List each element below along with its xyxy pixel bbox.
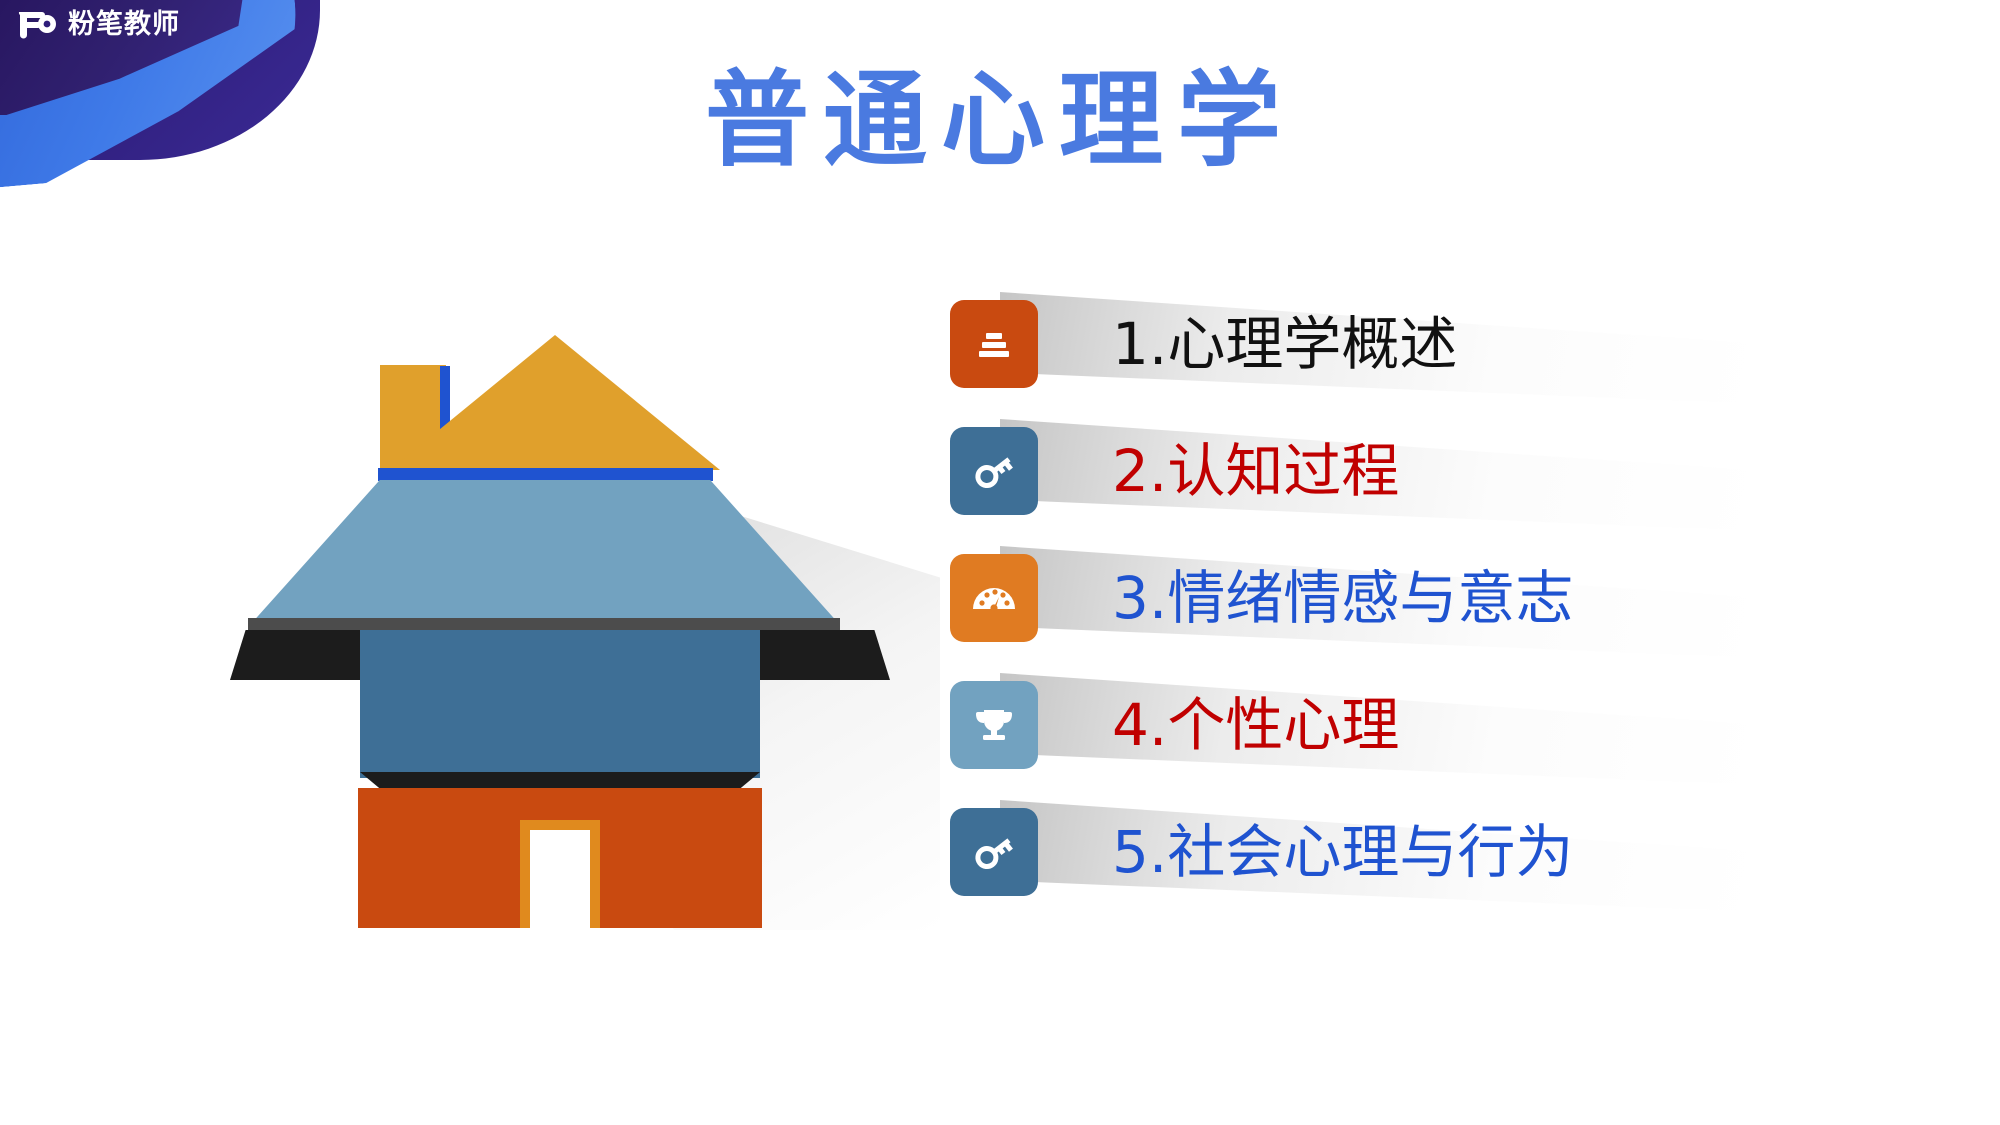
- agenda-list: 1.心理学概述 2.认知过程: [950, 300, 1950, 935]
- house-eave-left: [230, 630, 360, 680]
- house-doorway: [530, 830, 590, 930]
- brand-inner: 粉笔教师: [16, 8, 180, 40]
- agenda-item-1[interactable]: 1.心理学概述: [950, 300, 1950, 427]
- agenda-item-label: 3.情绪情感与意志: [1112, 556, 1573, 640]
- key-icon[interactable]: [950, 427, 1038, 515]
- slide-canvas: 粉笔教师 普通心理学 1.心理: [0, 0, 2000, 1125]
- key-icon[interactable]: [950, 808, 1038, 896]
- agenda-item-4[interactable]: 4.个性心理: [950, 681, 1950, 808]
- trophy-icon[interactable]: [950, 681, 1038, 769]
- agenda-item-label: 1.心理学概述: [1112, 302, 1457, 386]
- agenda-item-label: 4.个性心理: [1112, 683, 1399, 767]
- house-eave-right: [760, 630, 890, 680]
- brand-name: 粉笔教师: [68, 8, 180, 40]
- house-roof-main: [250, 480, 840, 625]
- agenda-item-3[interactable]: 3.情绪情感与意志: [950, 554, 1950, 681]
- house-body: [360, 630, 760, 778]
- agenda-item-label: 2.认知过程: [1112, 429, 1399, 513]
- list-align-icon[interactable]: [950, 300, 1038, 388]
- house-illustration: [230, 320, 890, 930]
- agenda-item-2[interactable]: 2.认知过程: [950, 427, 1950, 554]
- page-title: 普通心理学: [0, 62, 2000, 180]
- agenda-item-label: 5.社会心理与行为: [1112, 810, 1573, 894]
- agenda-item-5[interactable]: 5.社会心理与行为: [950, 808, 1950, 935]
- house-roof-blue-strip: [378, 468, 713, 481]
- gauge-icon[interactable]: [950, 554, 1038, 642]
- fb-logo-icon: [16, 8, 58, 40]
